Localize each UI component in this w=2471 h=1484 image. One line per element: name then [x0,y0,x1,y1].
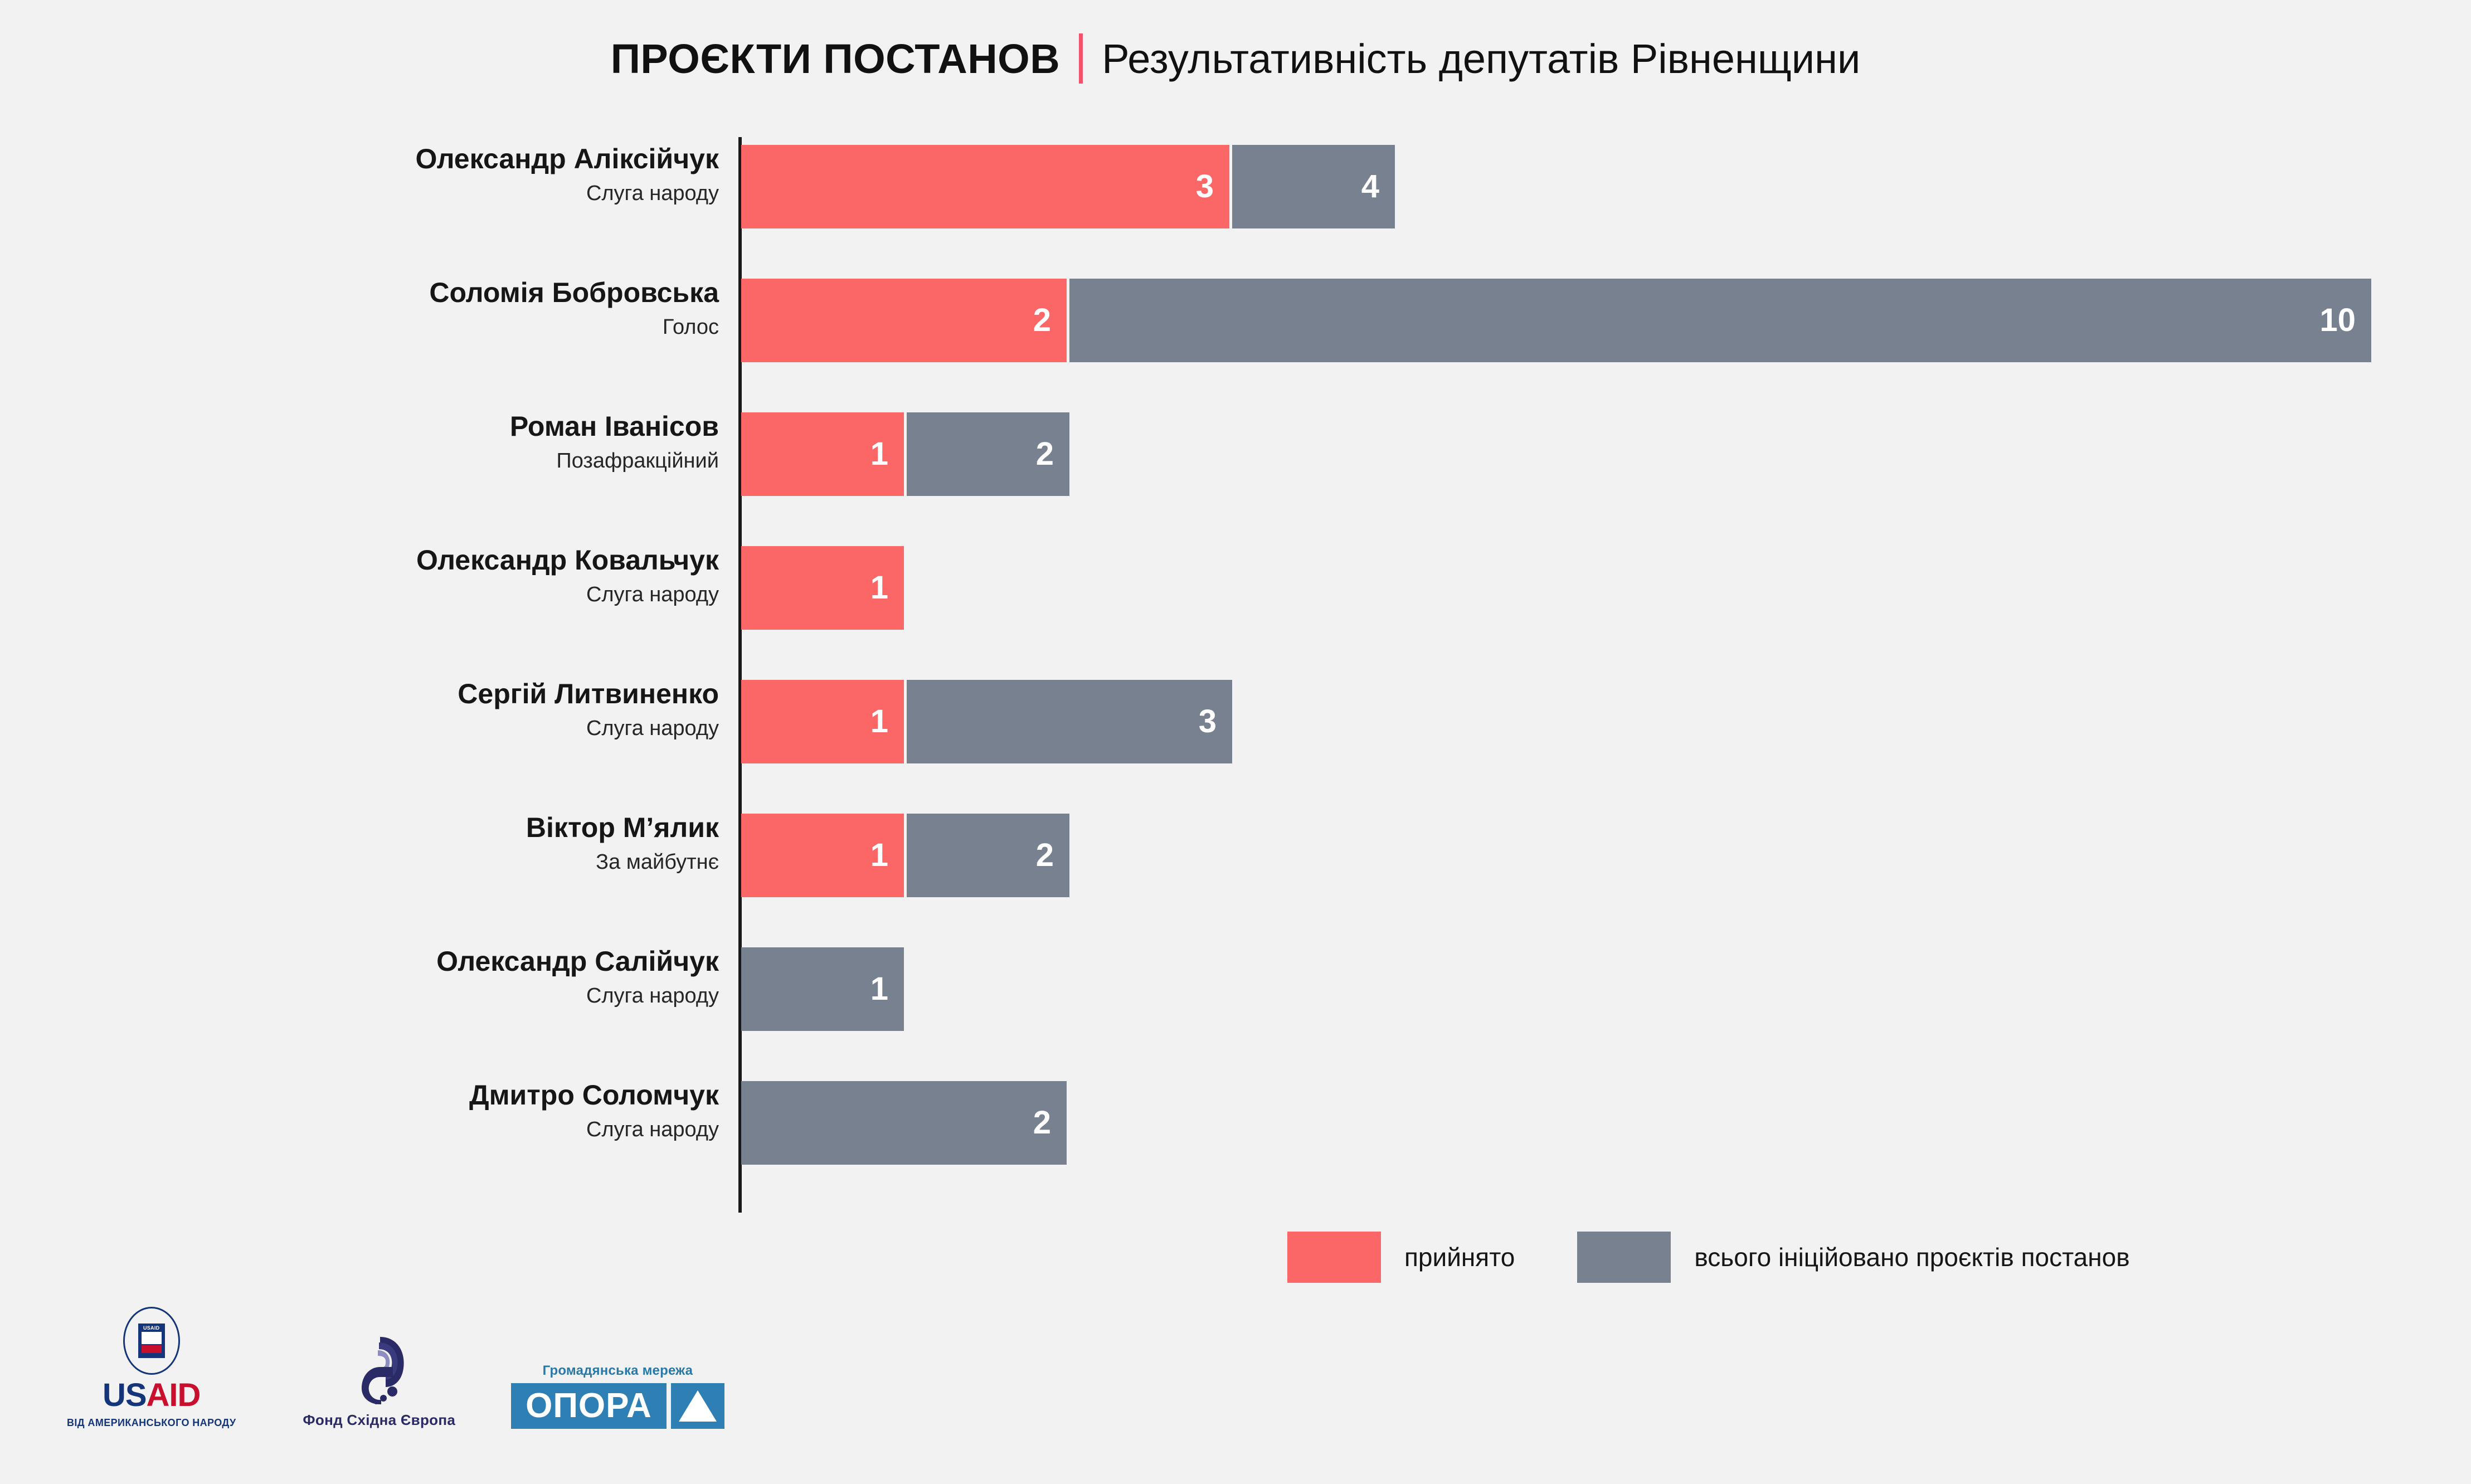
chart-row-label: Сергій ЛитвиненкоСлуга народу [0,680,719,739]
bar-segment-accepted: 1 [741,814,904,897]
page-header: ПРОЄКТИ ПОСТАНОВ Результативність депута… [0,33,2471,84]
opora-wordmark-box: ОПОРА [511,1383,667,1429]
bar-value-accepted: 1 [870,839,888,872]
bar-segment-total: 3 [907,680,1232,763]
deputy-name: Соломія Бобровська [0,279,719,306]
bar-value-total: 2 [1036,839,1054,872]
chart-row-bars: 210 [741,279,2371,362]
bar-value-accepted: 3 [1196,171,1214,203]
chart-row: Олександр КовальчукСлуга народу1 [0,546,2471,680]
legend-item-accepted: прийнято [1287,1232,1515,1283]
bar-segment-total: 2 [741,1081,1067,1165]
usaid-wordmark-us: US [103,1377,147,1413]
opora-logo: Громадянська мережа ОПОРА [511,1363,724,1429]
deputy-party: Слуга народу [0,718,719,739]
chart-row-bars: 12 [741,814,1069,897]
bar-segment-accepted: 2 [741,279,1067,362]
usaid-seal-text: USAID [143,1325,160,1331]
chart-row-label: Роман ІванісовПозафракційний [0,412,719,471]
chart-row-label: Віктор М’яликЗа майбутнє [0,814,719,873]
east-europe-foundation-mark-icon [346,1334,412,1406]
bar-segment-accepted: 1 [741,680,904,763]
legend-swatch-total-icon [1577,1232,1671,1283]
bar-value-total: 1 [870,973,888,1005]
bar-segment-total: 1 [741,947,904,1031]
deputy-name: Олександр Ковальчук [0,546,719,574]
bar-chart: Олександр АліксійчукСлуга народу34Соломі… [0,137,2471,1213]
usaid-wordmark: USAID [103,1379,200,1412]
bar-value-total: 10 [2319,304,2356,337]
legend-item-total: всього ініційовано проєктів постанов [1577,1232,2129,1283]
deputy-name: Віктор М’ялик [0,814,719,841]
title-divider [1079,33,1083,84]
chart-row-label: Дмитро СоломчукСлуга народу [0,1081,719,1140]
deputy-name: Олександр Салійчук [0,947,719,975]
bar-segment-total: 4 [1232,145,1395,228]
chart-row-label: Олександр АліксійчукСлуга народу [0,145,719,204]
chart-row: Олександр АліксійчукСлуга народу34 [0,145,2471,279]
bar-segment-total: 2 [907,814,1069,897]
bar-value-total: 2 [1033,1107,1051,1139]
chart-row-label: Соломія БобровськаГолос [0,279,719,338]
deputy-name: Роман Іванісов [0,412,719,440]
chart-row-bars: 34 [741,145,1395,228]
opora-top-line: Громадянська мережа [543,1363,693,1379]
deputy-party: Слуга народу [0,183,719,204]
bar-segment-accepted: 3 [741,145,1229,228]
deputy-party: Слуга народу [0,985,719,1006]
bar-value-accepted: 1 [870,572,888,604]
east-europe-foundation-logo: Фонд Східна Європа [303,1334,455,1429]
deputy-party: Голос [0,317,719,338]
chart-row-bars: 2 [741,1081,1067,1165]
bar-value-accepted: 2 [1033,304,1051,337]
chart-row-bars: 1 [741,947,904,1031]
deputy-party: Слуга народу [0,1119,719,1140]
legend-swatch-accepted-icon [1287,1232,1381,1283]
page-title-secondary: Результативність депутатів Рівненщини [1083,35,1860,82]
deputy-name: Дмитро Соломчук [0,1081,719,1109]
east-europe-foundation-name: Фонд Східна Європа [303,1412,455,1429]
deputy-party: Слуга народу [0,584,719,605]
bar-segment-accepted: 1 [741,546,904,630]
chart-legend: прийнято всього ініційовано проєктів пос… [1287,1232,2130,1283]
bar-value-accepted: 1 [870,438,888,470]
chart-row-label: Олександр СалійчукСлуга народу [0,947,719,1006]
opora-triangle-box [671,1383,724,1429]
chart-row-label: Олександр КовальчукСлуга народу [0,546,719,605]
chart-row: Віктор М’яликЗа майбутнє12 [0,814,2471,947]
deputy-party: Позафракційний [0,450,719,471]
bar-value-total: 3 [1199,705,1217,738]
bar-segment-total: 2 [907,412,1069,496]
chart-row: Соломія БобровськаГолос210 [0,279,2471,412]
usaid-tagline: ВІД АМЕРИКАНСЬКОГО НАРОДУ [67,1417,236,1429]
usaid-seal-icon: USAID [123,1307,180,1375]
deputy-name: Сергій Литвиненко [0,680,719,708]
legend-label-total: всього ініційовано проєктів постанов [1694,1242,2129,1272]
legend-label-accepted: прийнято [1404,1242,1515,1272]
chart-row-bars: 12 [741,412,1069,496]
bar-value-accepted: 1 [870,705,888,738]
bar-value-total: 2 [1036,438,1054,470]
opora-triangle-icon [679,1390,717,1422]
opora-wordmark: ОПОРА [526,1389,652,1423]
chart-row: Олександр СалійчукСлуга народу1 [0,947,2471,1081]
chart-row-bars: 1 [741,546,904,630]
bar-segment-total: 10 [1069,279,2371,362]
bar-segment-accepted: 1 [741,412,904,496]
chart-row: Сергій ЛитвиненкоСлуга народу13 [0,680,2471,814]
usaid-logo: USAID USAID ВІД АМЕРИКАНСЬКОГО НАРОДУ [67,1307,236,1429]
deputy-party: За майбутнє [0,852,719,873]
partner-logos: USAID USAID ВІД АМЕРИКАНСЬКОГО НАРОДУ Фо… [67,1307,724,1429]
page-title-primary: ПРОЄКТИ ПОСТАНОВ [611,35,1079,82]
bar-value-total: 4 [1361,171,1379,203]
deputy-name: Олександр Аліксійчук [0,145,719,173]
chart-row-bars: 13 [741,680,1232,763]
usaid-wordmark-aid: AID [147,1377,201,1413]
chart-row: Роман ІванісовПозафракційний12 [0,412,2471,546]
chart-row: Дмитро СоломчукСлуга народу2 [0,1081,2471,1215]
